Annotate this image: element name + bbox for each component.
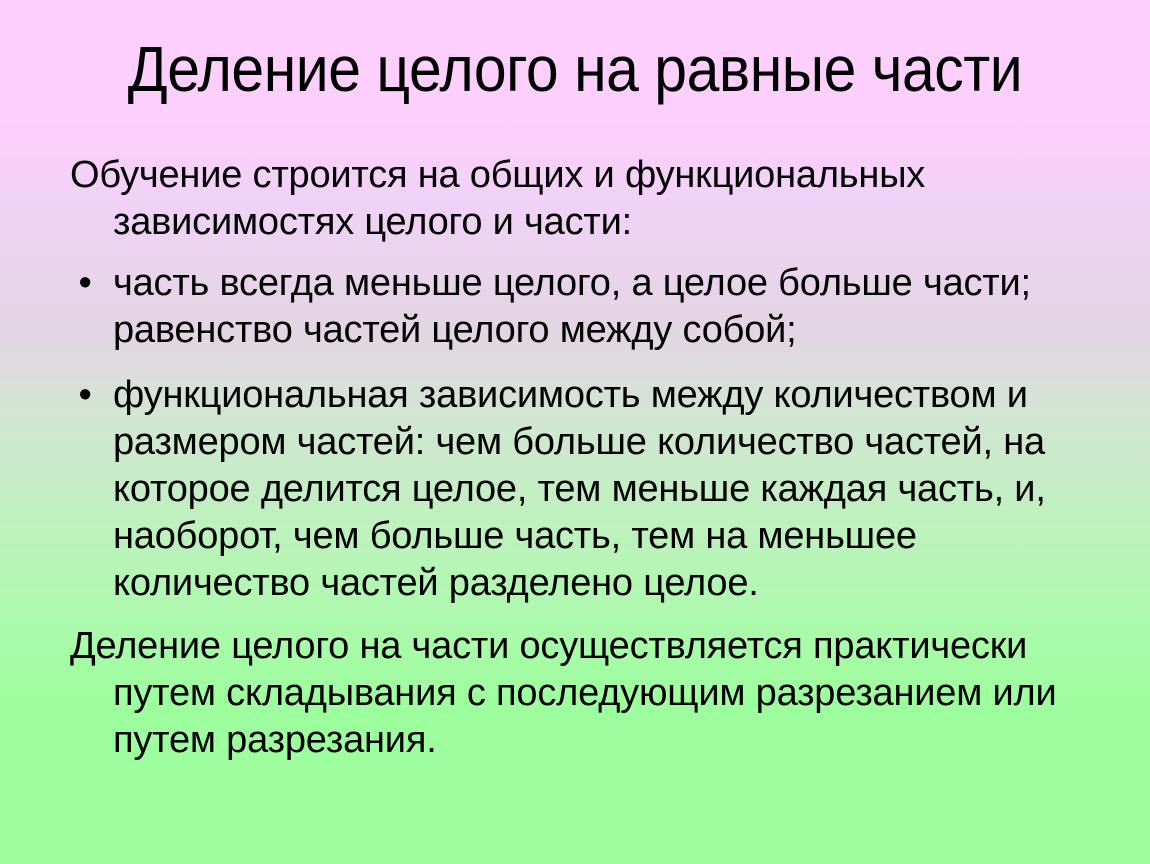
presentation-slide: Деление целого на равные части Обучение … — [0, 0, 1150, 864]
list-item: • часть всегда меньше целого, а целое бо… — [113, 260, 1100, 354]
paragraph-text: Обучение строится на общих и функциональ… — [70, 154, 925, 243]
list-item: • функциональная зависимость между колич… — [113, 372, 1100, 607]
list-item-label: часть всегда меньше целого, а целое боль… — [113, 260, 1100, 354]
body-paragraph-conclusion: Деление целого на части осуществляется п… — [113, 623, 1100, 764]
slide-title-area: Деление целого на равные части — [60, 36, 1090, 103]
page-title: Деление целого на равные части — [101, 36, 1049, 103]
bullet-dot-icon: • — [75, 372, 95, 419]
body-paragraph-intro: Обучение строится на общих и функциональ… — [113, 152, 1100, 246]
bullet-dot-icon: • — [75, 260, 95, 307]
list-item-label: функциональная зависимость между количес… — [113, 372, 1100, 607]
slide-body: Обучение строится на общих и функциональ… — [60, 152, 1100, 764]
paragraph-text: Деление целого на части осуществляется п… — [70, 625, 1057, 761]
